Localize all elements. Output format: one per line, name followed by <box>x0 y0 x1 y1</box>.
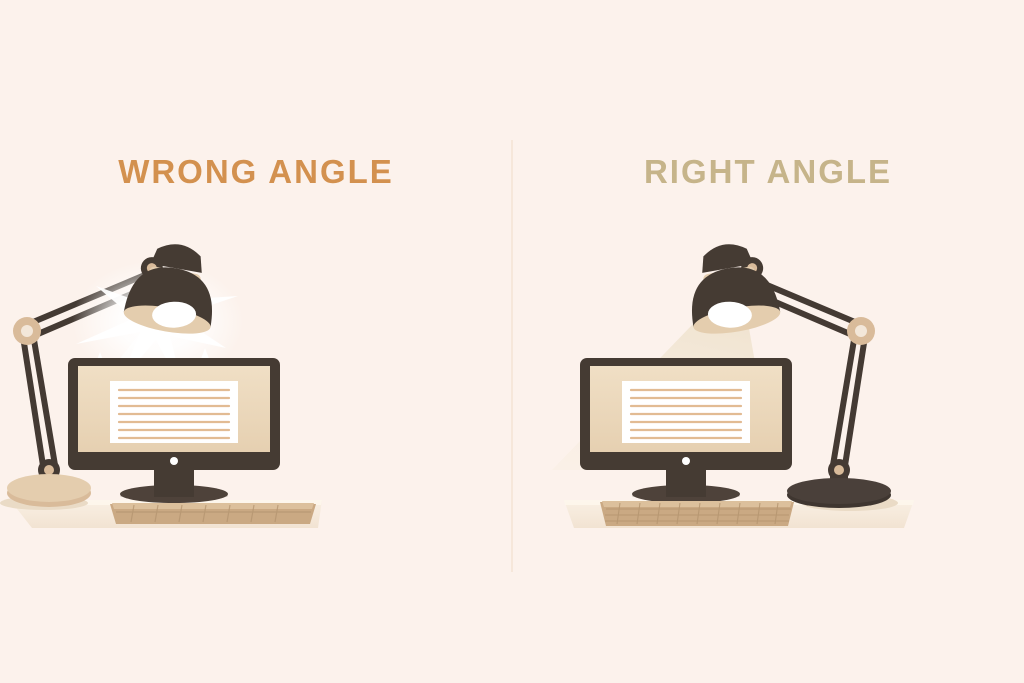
panel-wrong-angle: WRONG ANGLE <box>0 0 512 683</box>
keyboard-wrong <box>110 503 316 524</box>
monitor-wrong <box>68 358 280 503</box>
monitor-power-led-wrong <box>170 457 178 465</box>
panel-right-angle: RIGHT ANGLE <box>512 0 1024 683</box>
document-text-lines-wrong <box>119 390 229 438</box>
monitor-right <box>580 358 792 503</box>
lamp-lower-arm-wrong <box>22 328 56 472</box>
lamp-elbow-joint-right <box>847 317 875 345</box>
lamp-base-wrong <box>7 474 91 507</box>
lamp-head-right <box>680 237 782 339</box>
document-text-lines-right <box>631 390 741 438</box>
illustration-canvas: WRONG ANGLE <box>0 0 1024 683</box>
right-angle-scene <box>512 0 1024 683</box>
lamp-base-right <box>787 478 891 508</box>
lamp-elbow-joint-wrong <box>13 317 41 345</box>
wrong-angle-scene <box>0 0 512 683</box>
lamp-lower-arm-right <box>832 328 866 472</box>
monitor-power-led-right <box>682 457 690 465</box>
keyboard-right <box>600 501 794 526</box>
